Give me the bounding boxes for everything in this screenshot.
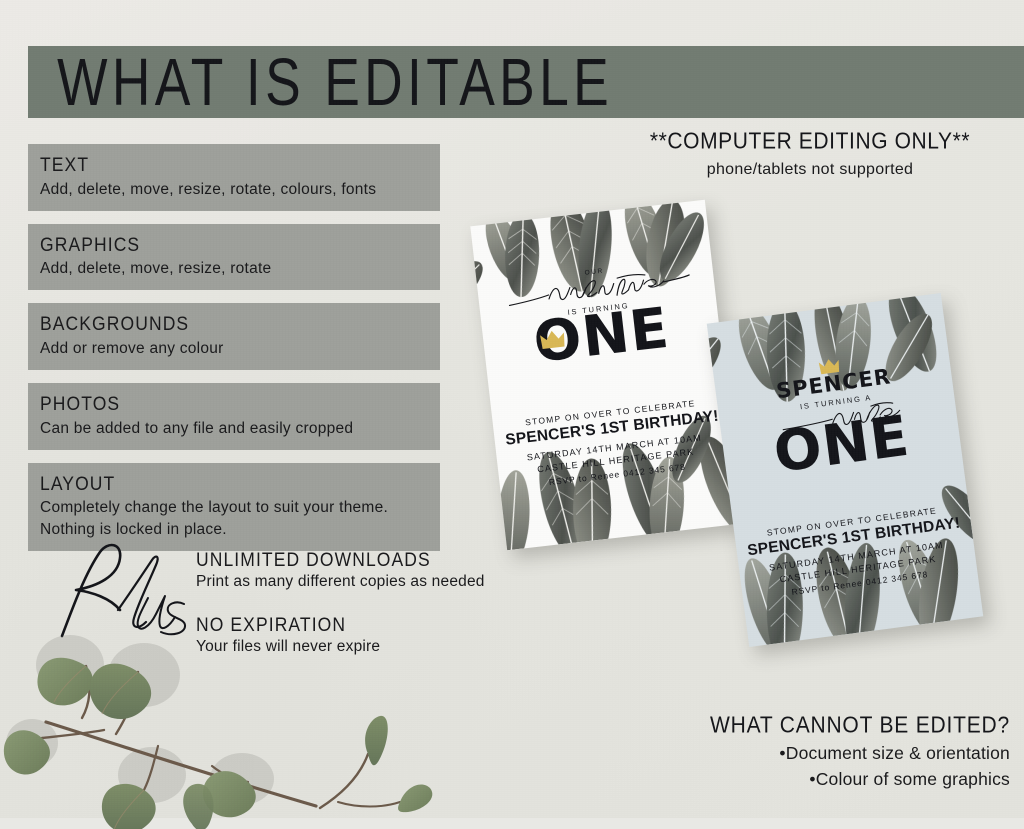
cannot-edit-title: WHAT CANNOT BE EDITED? (590, 713, 1010, 739)
feature-description: Add or remove any colour (40, 338, 428, 360)
feature-item-photos: PHOTOS Can be added to any file and easi… (28, 383, 440, 450)
feature-description-line: Add or remove any colour (40, 338, 428, 360)
eucalyptus-sprig-decoration (0, 594, 456, 824)
plus-item-title: UNLIMITED DOWNLOADS (196, 548, 526, 572)
invitation-card-white[interactable]: OUR (470, 200, 741, 551)
feature-description-line: Add, delete, move, resize, rotate, colou… (40, 179, 428, 201)
computer-editing-note-main: **COMPUTER EDITING ONLY** (610, 129, 1010, 155)
crown-icon (817, 357, 841, 376)
feature-description: Can be added to any file and easily crop… (40, 418, 428, 440)
listing-image-canvas: WHAT IS EDITABLE TEXT Add, delete, move,… (0, 0, 1024, 818)
cannot-edit-section: WHAT CANNOT BE EDITED? •Document size & … (590, 714, 1010, 790)
editable-features-list: TEXT Add, delete, move, resize, rotate, … (28, 144, 440, 564)
computer-editing-note: **COMPUTER EDITING ONLY** phone/tablets … (610, 130, 1010, 179)
feature-description: Add, delete, move, resize, rotate, colou… (40, 179, 428, 201)
tropical-leaf-border-icon (470, 200, 741, 551)
invitation-card-blue[interactable]: SPENCER IS TURNING A (707, 293, 984, 647)
cannot-edit-item: •Document size & orientation (590, 743, 1010, 764)
feature-title: BACKGROUNDS (40, 311, 428, 337)
cannot-edit-item: •Colour of some graphics (590, 769, 1010, 790)
feature-title: PHOTOS (40, 391, 428, 417)
computer-editing-note-sub: phone/tablets not supported (610, 161, 1010, 179)
feature-title: GRAPHICS (40, 232, 428, 258)
feature-item-text: TEXT Add, delete, move, resize, rotate, … (28, 144, 440, 211)
feature-item-graphics: GRAPHICS Add, delete, move, resize, rota… (28, 224, 440, 291)
feature-description: Completely change the layout to suit you… (40, 497, 428, 541)
plus-item-unlimited-downloads: UNLIMITED DOWNLOADS Print as many differ… (196, 548, 526, 591)
feature-description-line: Add, delete, move, resize, rotate (40, 258, 428, 280)
header-banner: WHAT IS EDITABLE (28, 46, 1024, 118)
feature-description-line: Can be added to any file and easily crop… (40, 418, 428, 440)
page-title: WHAT IS EDITABLE (28, 48, 613, 115)
plus-item-description: Print as many different copies as needed (196, 573, 526, 591)
feature-title: TEXT (40, 152, 428, 178)
feature-description: Add, delete, move, resize, rotate (40, 258, 428, 280)
feature-description-line: Completely change the layout to suit you… (40, 497, 428, 519)
crown-icon (539, 328, 567, 350)
feature-item-backgrounds: BACKGROUNDS Add or remove any colour (28, 303, 440, 370)
feature-title: LAYOUT (40, 471, 428, 497)
